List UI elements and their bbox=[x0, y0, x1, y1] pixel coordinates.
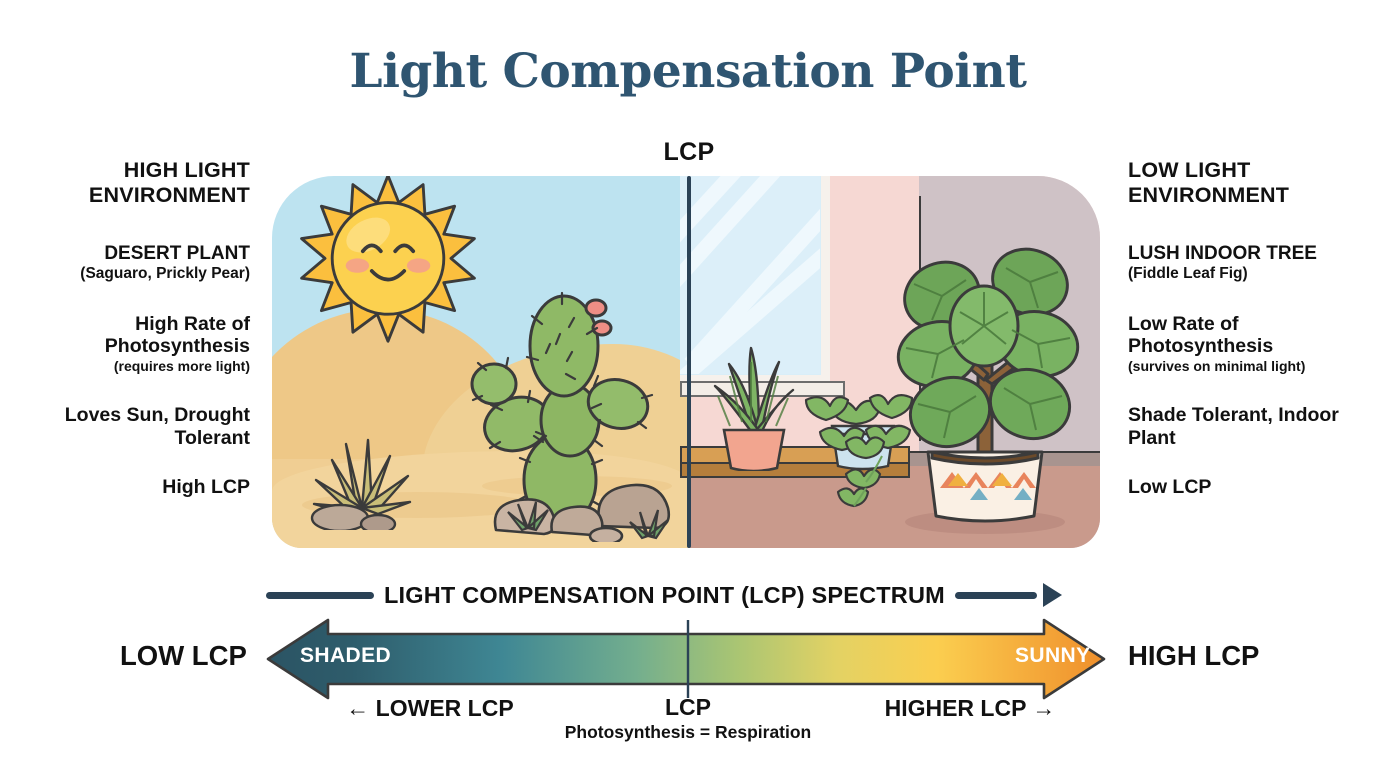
desert-rock-icon bbox=[480, 452, 680, 542]
right-rate-sub: (survives on minimal light) bbox=[1128, 358, 1376, 374]
right-rate-title: Low Rate of Photosynthesis bbox=[1128, 313, 1376, 359]
right-plant-sub: (Fiddle Leaf Fig) bbox=[1128, 265, 1376, 283]
left-plant-title: DESERT PLANT bbox=[10, 243, 250, 265]
lcp-divider-label: LCP bbox=[607, 138, 771, 167]
spectrum-heading-line-left bbox=[266, 592, 374, 599]
snake-plant-icon bbox=[698, 326, 808, 471]
left-rate-title: High Rate of Photosynthesis bbox=[10, 313, 250, 359]
spectrum-bar bbox=[266, 616, 1106, 702]
lcp-midpoint-sub: Photosynthesis = Respiration bbox=[563, 722, 813, 744]
left-rate-sub: (requires more light) bbox=[10, 358, 250, 374]
lcp-midpoint-group: LCP Photosynthesis = Respiration bbox=[563, 695, 813, 744]
higher-lcp-label: HIGHER LCP → bbox=[840, 695, 1100, 722]
right-plant-title: LUSH INDOOR TREE bbox=[1128, 243, 1376, 265]
spectrum-shaded-text: SHADED bbox=[300, 644, 391, 668]
infographic-canvas: Light Compensation Point HIGH LIGHT ENVI… bbox=[0, 0, 1376, 768]
page-title: Light Compensation Point bbox=[0, 44, 1376, 99]
right-label-column: LOW LIGHT ENVIRONMENT LUSH INDOOR TREE (… bbox=[1128, 158, 1376, 499]
right-heading: LOW LIGHT ENVIRONMENT bbox=[1128, 158, 1376, 207]
left-heading: HIGH LIGHT ENVIRONMENT bbox=[10, 158, 250, 207]
lower-lcp-label: ← LOWER LCP bbox=[300, 695, 560, 722]
spectrum-heading-row: LIGHT COMPENSATION POINT (LCP) SPECTRUM bbox=[266, 578, 1106, 612]
lcp-divider-line bbox=[687, 176, 691, 548]
left-traits: Loves Sun, Drought Tolerant bbox=[10, 404, 250, 450]
spectrum-heading-line-right bbox=[955, 592, 1037, 599]
spectrum-low-label: LOW LCP bbox=[120, 640, 247, 672]
right-traits: Shade Tolerant, Indoor Plant bbox=[1128, 404, 1376, 450]
spectrum-high-label: HIGH LCP bbox=[1128, 640, 1259, 672]
left-label-column: HIGH LIGHT ENVIRONMENT DESERT PLANT (Sag… bbox=[10, 158, 250, 499]
left-plant-sub: (Saguaro, Prickly Pear) bbox=[10, 265, 250, 283]
fiddle-leaf-fig-icon bbox=[880, 204, 1090, 534]
spectrum-sunny-text: SUNNY bbox=[1015, 644, 1091, 668]
lcp-midpoint-title: LCP bbox=[563, 695, 813, 720]
desert-shrub-icon bbox=[292, 410, 432, 530]
left-lcp: High LCP bbox=[10, 476, 250, 499]
desert-scene bbox=[272, 176, 688, 548]
indoor-scene bbox=[688, 176, 1100, 548]
arrow-right-icon bbox=[1043, 583, 1062, 607]
illustration-panel bbox=[272, 176, 1100, 548]
right-lcp: Low LCP bbox=[1128, 476, 1376, 499]
spectrum-heading-text: LIGHT COMPENSATION POINT (LCP) SPECTRUM bbox=[384, 582, 945, 609]
